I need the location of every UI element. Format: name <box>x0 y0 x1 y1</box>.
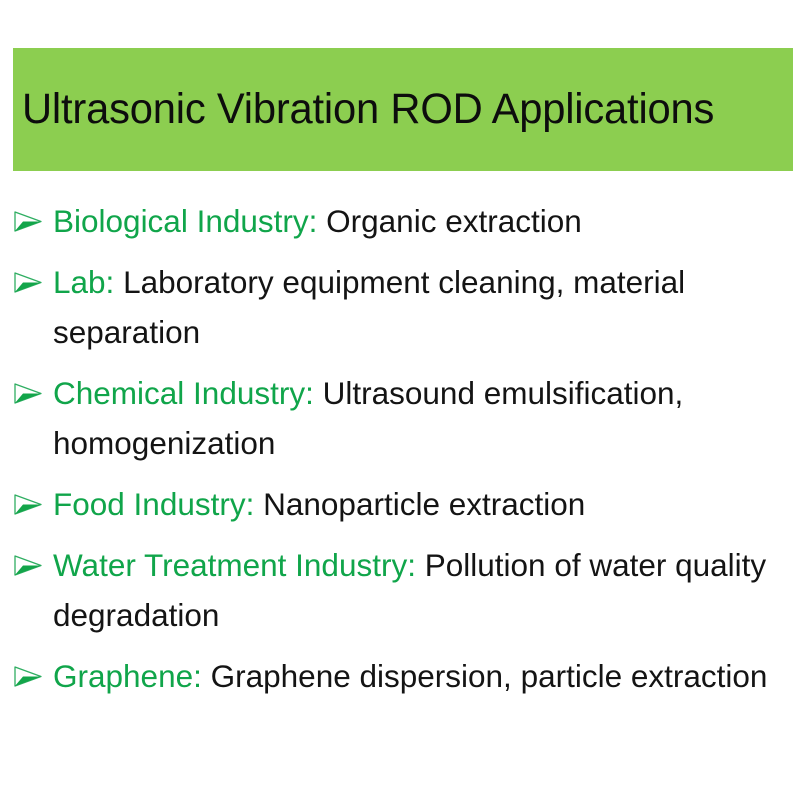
list-item: Graphene: Graphene dispersion, particle … <box>13 651 788 701</box>
arrow-bullet-icon <box>13 651 45 701</box>
list-item-label: Graphene: <box>53 658 202 694</box>
title-banner: Ultrasonic Vibration ROD Applications <box>13 48 793 171</box>
arrow-bullet-icon <box>13 368 45 418</box>
list-item-description-text: Organic extraction <box>326 203 582 239</box>
applications-list: Biological Industry: Organic extraction … <box>13 196 788 701</box>
list-item-description-text: Graphene dispersion, particle extraction <box>211 658 768 694</box>
arrow-bullet-icon <box>13 257 45 307</box>
list-item-description <box>314 375 323 411</box>
list-item-label: Biological Industry: <box>53 203 317 239</box>
list-item: Water Treatment Industry: Pollution of w… <box>13 540 788 640</box>
list-item-description <box>114 264 123 300</box>
list-item: Chemical Industry: Ultrasound emulsifica… <box>13 368 788 468</box>
list-item-description <box>416 547 425 583</box>
slide-canvas: Ultrasonic Vibration ROD Applications Bi… <box>0 0 800 800</box>
list-item-label: Food Industry: <box>53 486 254 522</box>
arrow-bullet-icon <box>13 196 45 246</box>
arrow-bullet-icon <box>13 540 45 590</box>
list-item-label: Chemical Industry: <box>53 375 314 411</box>
list-item-description <box>254 486 263 522</box>
list-item-description <box>317 203 326 239</box>
list-item: Lab: Laboratory equipment cleaning, mate… <box>13 257 788 357</box>
arrow-bullet-icon <box>13 479 45 529</box>
page-title: Ultrasonic Vibration ROD Applications <box>22 87 714 132</box>
list-item: Biological Industry: Organic extraction <box>13 196 788 246</box>
list-item-label: Lab: <box>53 264 114 300</box>
list-item-description-text: Laboratory equipment cleaning, material … <box>53 264 685 350</box>
list-item-label: Water Treatment Industry: <box>53 547 416 583</box>
list-item-description-text: Nanoparticle extraction <box>263 486 585 522</box>
list-item: Food Industry: Nanoparticle extraction <box>13 479 788 529</box>
list-item-description <box>202 658 211 694</box>
